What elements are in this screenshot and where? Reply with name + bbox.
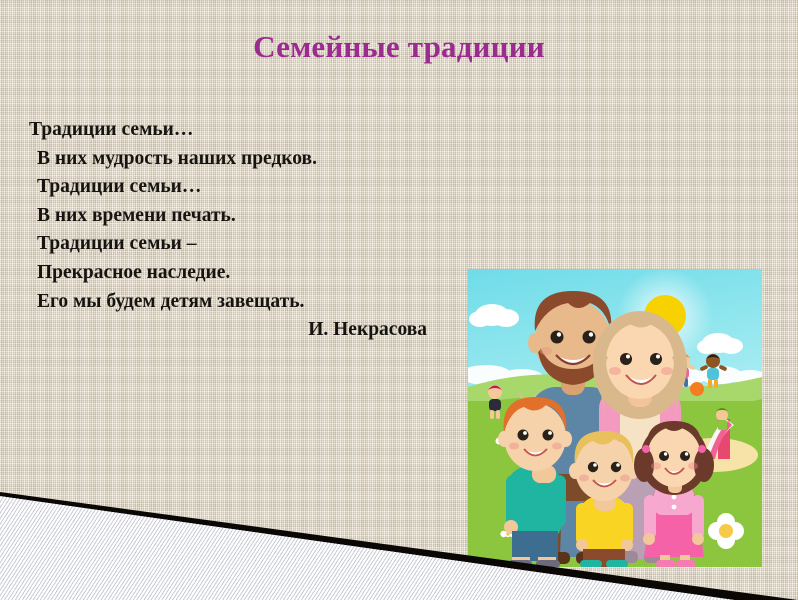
hair-tie [642, 445, 650, 453]
eye [620, 353, 632, 365]
eye [583, 331, 596, 344]
poem-author: И. Некрасова [29, 316, 449, 345]
pigtail [634, 448, 654, 482]
ball-icon [690, 382, 704, 396]
poem-text-block: Традиции семьи… В них мудрость наших пре… [29, 116, 449, 345]
family-illustration [468, 269, 762, 567]
presentation-slide: Семейные традиции Традиции семьи… В них … [0, 0, 798, 600]
poem-line: Прекрасное наследие. [29, 259, 449, 288]
eye [518, 430, 529, 441]
eye [650, 353, 662, 365]
eye [659, 451, 669, 461]
poem-line: Традиции семьи… [29, 173, 449, 202]
poem-line: Его мы будем детям завещать. [29, 288, 449, 317]
family-illustration-svg [468, 269, 762, 567]
eye [551, 331, 564, 344]
hair-tie [698, 445, 706, 453]
slide-title: Семейные традиции [0, 29, 798, 65]
eye [611, 462, 621, 472]
poem-line: Традиции семьи – [29, 230, 449, 259]
eye [680, 451, 690, 461]
eye [543, 430, 554, 441]
poem-line: В них мудрость наших предков. [29, 145, 449, 174]
poem-line: Традиции семьи… [29, 116, 449, 145]
poem-line: В них времени печать. [29, 202, 449, 231]
eye [588, 462, 598, 472]
